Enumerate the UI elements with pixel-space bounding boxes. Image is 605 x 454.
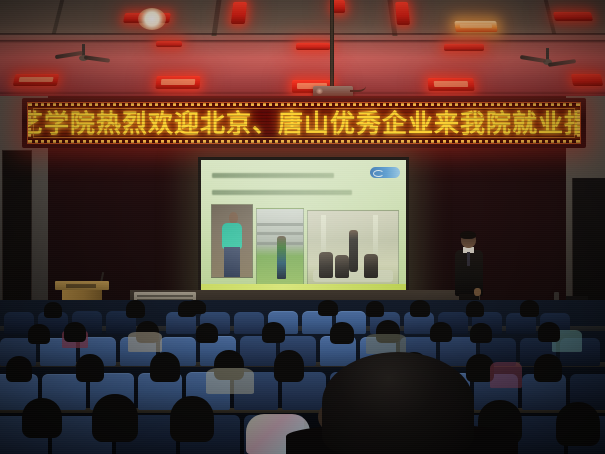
audience-member [534,354,562,382]
photo-figure-torso [222,223,242,249]
fixture-strip [460,24,492,29]
audience-clothing [128,332,162,352]
audience-member [196,323,218,343]
photo-corridor-band [257,223,303,226]
audience-member [28,324,50,344]
ceiling [0,0,605,100]
ceiling-light-fixture [427,78,474,91]
audience-member [556,402,600,446]
ceiling-light-fixture [155,76,200,89]
slide-text-line [212,173,334,178]
presenter-hair [460,231,476,239]
wall-speaker-panel-right [572,178,605,310]
audience-member [64,322,86,342]
photo-standing-figure [349,230,358,271]
audience-member [366,301,384,317]
audience-member [126,300,145,318]
fixture-strip [433,81,468,86]
audience-member [6,356,32,382]
ceiling-light-fixture [395,2,410,25]
led-banner-text: 园艺学院热烈欢迎北京、唐山优秀企业来我院就业指导 [28,103,580,143]
photo-seated-figure [319,252,333,277]
ac-vent [137,295,193,297]
audience-member [410,300,430,317]
photo-seated-figure [335,255,349,277]
ceiling-light-fixture [296,43,330,50]
audience-member [466,301,484,317]
audience-member [150,352,180,382]
audience-clothing [490,362,522,388]
projector-lens-icon [316,88,323,94]
audience-member [520,300,539,317]
audience-member [76,354,104,382]
audience-member [330,322,354,344]
ceiling-spotlight [138,8,166,30]
audience-clothing [366,334,406,354]
ceiling-seam [0,33,605,35]
audience-member [22,398,62,438]
slide-corporate-logo-icon [370,167,400,178]
audience-member [318,300,338,316]
audience-member [44,302,62,318]
audience-member [170,396,214,442]
fixture-strip [161,79,195,84]
projection-screen [201,160,406,296]
ceiling-light-fixture [156,41,182,47]
audience-member [538,322,560,342]
audience-member [274,350,304,382]
foreground-person-head [322,352,474,454]
led-banner: 园艺学院热烈欢迎北京、唐山优秀企业来我院就业指导 [27,102,581,144]
ceiling-light-fixture [231,2,247,24]
ceiling-fan-blade [548,59,576,67]
ceiling-fan-blade [520,55,546,63]
slide-photo-man-teal-shirt [211,204,253,278]
photo-corridor-band [257,232,303,235]
audience-member [186,300,206,314]
presenter-hand [474,288,481,296]
photo-figure-head [229,212,238,224]
ceiling-light-fixture [553,12,593,21]
auditorium-seat [234,312,264,334]
auditorium-photo: 园艺学院热烈欢迎北京、唐山优秀企业来我院就业指导 [0,0,605,454]
ceiling-light-fixture [13,74,60,86]
audience-member [92,394,138,442]
ceiling-light-fixture [444,44,484,51]
audience-clothing [206,368,254,394]
audience-member [430,322,452,342]
lectern-name-plate [66,284,96,288]
audience-member [262,322,285,343]
presenter-tie [467,252,470,266]
ceiling-light-fixture [571,74,604,86]
slide-photo-person-corridor [256,208,304,286]
wall-speaker-panel-left [2,150,32,312]
ceiling-fan-blade [84,55,110,63]
ceiling-upper-band [0,0,605,34]
photo-seated-figure [364,254,378,278]
slide-text-line [212,190,352,195]
projector-mount-pole [330,0,334,88]
projector-cable [350,80,366,92]
ceiling-light-fixture [333,0,345,13]
audience-member [470,323,492,343]
slide-photo-group-seated [307,210,399,286]
photo-figure [277,236,285,279]
photo-figure-legs [224,247,240,277]
ceiling-light-fixture-warm [454,21,497,32]
fixture-strip [19,77,54,82]
